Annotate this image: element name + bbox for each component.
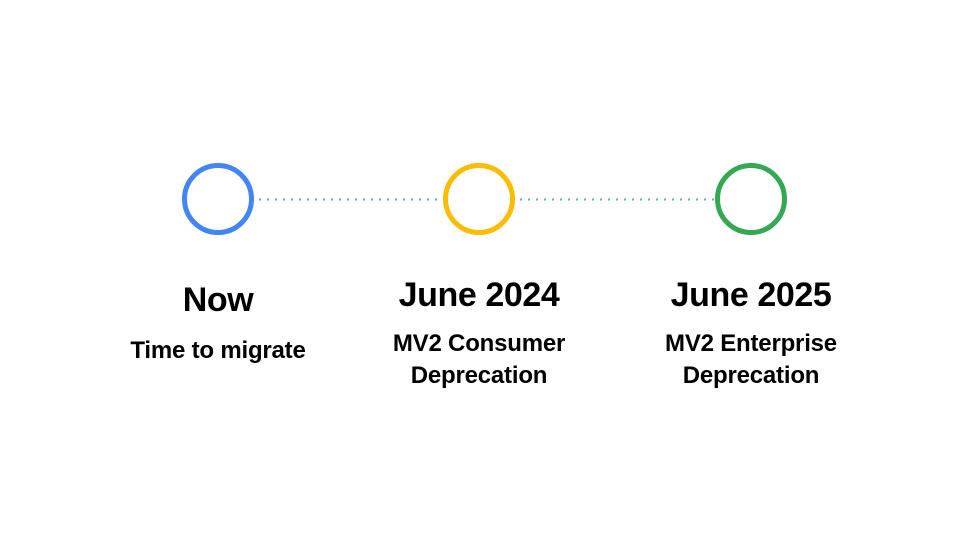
timeline-milestone-now: Now Time to migrate: [78, 160, 358, 367]
milestone-sublabel-now: Time to migrate: [78, 335, 358, 367]
circle-outline-icon-now: [182, 163, 254, 235]
timeline-node-wrap-now: [78, 160, 358, 238]
milestone-headline-june-2025: June 2025: [616, 276, 886, 314]
milestone-sublabel-june-2024: MV2 Consumer Deprecation: [344, 328, 614, 392]
circle-outline-icon-june-2024: [443, 163, 515, 235]
timeline-node-wrap-june-2025: [616, 160, 886, 238]
timeline-canvas: Now Time to migrate June 2024 MV2 Consum…: [0, 0, 960, 540]
milestone-headline-now: Now: [78, 281, 358, 319]
timeline-milestone-june-2025: June 2025 MV2 Enterprise Deprecation: [616, 160, 886, 392]
milestone-sublabel-june-2025: MV2 Enterprise Deprecation: [616, 328, 886, 392]
timeline-milestone-june-2024: June 2024 MV2 Consumer Deprecation: [344, 160, 614, 392]
milestone-headline-june-2024: June 2024: [344, 276, 614, 314]
circle-outline-icon-june-2025: [715, 163, 787, 235]
timeline-node-wrap-june-2024: [344, 160, 614, 238]
